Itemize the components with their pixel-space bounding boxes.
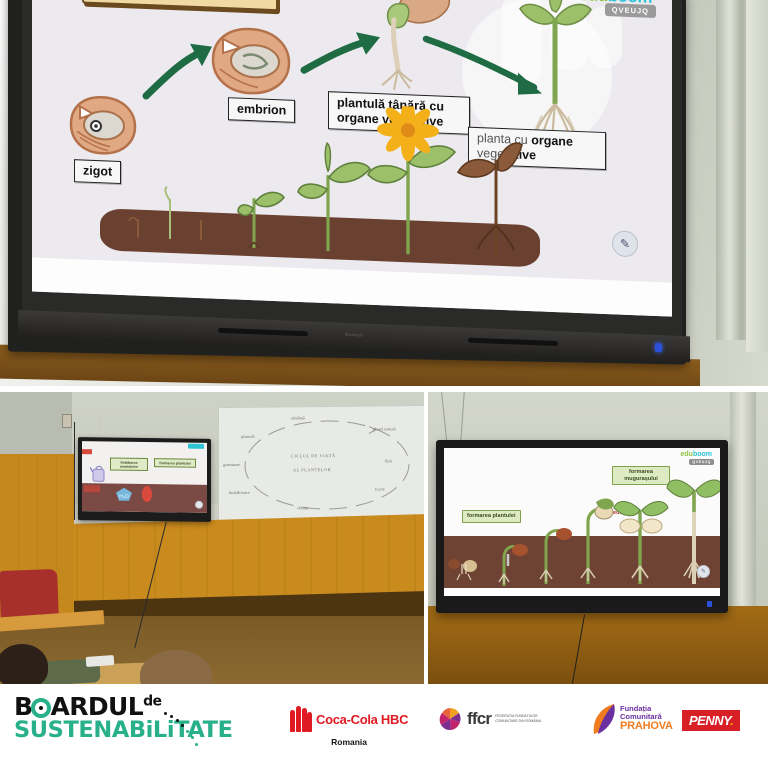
wb-center-line1: CICLUL DE VIAȚĂ [291,453,336,458]
sprout-stage-1 [124,197,154,238]
br-germination-stage-6 [666,460,720,584]
classroom-whiteboard: sămânță plantulă germinare înrădăcinare … [218,405,424,529]
br-label-mugur-line1: formarea [629,469,653,475]
interactive-flat-panel[interactable]: eduboom QVEUJQ dezvoltarea plantelor [8,0,686,365]
door-frame [716,0,750,340]
wall-cable-1 [74,422,75,520]
tv-screen[interactable]: eduboom QVEUJQ dezvoltarea plantelor [32,0,672,317]
watermark-badge: QVEUJQ [605,3,656,18]
ffcr-mark-icon [437,706,463,732]
logo-boardul-sustenabilitate: BARDULde SUSTENABiLiTATE [14,694,214,743]
coca-cola-country: Romania [290,737,408,747]
wb-node-vlastar: vlăstar [297,505,308,510]
lesson-board: eduboom QVEUJQ dezvoltarea plantelor [32,0,672,317]
wb-center-line2: AL PLANTELOR [293,467,331,472]
label-embrion: embrion [228,97,295,122]
boardul-line2: SUSTENABiLiTATE [14,719,214,743]
pen-tool-button[interactable]: ✎ [612,230,638,257]
logo-ffcr: ffcr FEDERAȚIA FUNDAȚIILOR COMUNITARE DI… [437,706,547,732]
fcp-text: Fundația Comunitară PRAHOVA [620,705,673,732]
br-germination-stage-5 [612,476,670,584]
br-door-trim [730,392,756,607]
br-watermark-boom: boom [693,451,712,458]
wb-node-inradacinare: înrădăcinare [229,490,250,495]
arrow-zigot-to-embrion [140,38,220,105]
boardul-de: de [143,694,161,710]
br-wood-panelling [428,606,768,684]
top-photo-panel: eduboom QVEUJQ dezvoltarea plantelor [0,0,768,386]
watering-can-icon [90,461,108,485]
penny-name: PENNY [689,713,730,728]
screen-watermark-chip [188,444,204,449]
label-embrion-text: embrion [237,102,286,118]
br-pen-tool-button[interactable]: ✎ [697,565,710,578]
speaker-vent-left [218,328,308,337]
coca-cola-main: Coca-Cola HBC [290,706,408,732]
seedling-stage-5 [294,138,372,253]
wb-node-germinare: germinare [223,462,240,467]
second-screen-photo-panel: eduboom QVEUJQ formarea plantulei cotile… [428,392,768,684]
logo-fundatia-comunitara-prahova: Fundația Comunitară PRAHOVA [590,702,673,736]
br-label-formarea-plantulei: formarea plantulei [462,510,521,523]
sprout-stage-2 [156,184,186,239]
lesson-title-text: dezvoltarea plantelor [100,0,260,1]
classroom-wall-screen[interactable]: îmbibarea semințelor formarea plantulei … [78,437,211,522]
wall-outlet [62,414,72,428]
br-eduboom-watermark: eduboom [680,451,712,458]
ffcr-subtitle: FEDERAȚIA FUNDAȚIILOR COMUNITARE DIN ROM… [495,714,547,723]
wb-node-planta-matura: plantă matură [373,426,396,431]
h2o-icon: H₂O [116,488,132,502]
flowering-plant-illustration [362,104,458,256]
collage-page: eduboom QVEUJQ dezvoltarea plantelor [0,0,768,768]
screen-corner-tag [82,449,92,454]
svg-text:H₂O: H₂O [119,494,129,500]
label-planta-line1b: organe [531,133,573,149]
br-watermark-edu: edu [680,451,692,458]
wb-node-plantula: plantulă [241,434,255,439]
seed-icon [140,486,154,504]
br-germination-stage-2 [486,522,530,586]
sprout-stage-3 [188,200,216,241]
tv-brand-logo: MaxHub [345,332,363,338]
classroom-photo-panel: sămânță plantulă germinare înrădăcinare … [0,392,424,684]
penny-dot: . [730,713,733,728]
logo-coca-cola-hbc: Coca-Cola HBC Romania [290,706,408,747]
withering-plant-illustration [452,128,532,259]
boardul-line1: BARDULde [14,694,214,719]
label-zigot: zigot [74,159,121,184]
classroom-screen-content: îmbibarea semințelor formarea plantulei … [82,441,207,513]
screen-left-tag [84,485,100,492]
power-led [655,343,662,352]
br-screen-content: eduboom QVEUJQ formarea plantulei cotile… [444,448,720,596]
zigot-seed-illustration [68,93,138,158]
door-frame-edge [746,0,768,352]
speaker-vent-right [468,338,558,347]
fcp-line3: PRAHOVA [620,721,673,733]
label-zigot-text: zigot [83,164,112,179]
power-strip [86,655,115,667]
lesson-title-banner: dezvoltarea plantelor [82,0,278,11]
wb-node-flori: flori [385,458,392,463]
mini-label-imbibarea: îmbibarea semințelor [110,458,148,472]
screen-pen-tool[interactable] [195,501,203,509]
coca-cola-name: Coca-Cola HBC [316,712,408,727]
br-power-led [707,601,712,607]
logo-penny: PENNY. [682,710,740,731]
wb-node-samanta: sămânță [291,415,305,420]
student-head-left [0,644,48,684]
br-germination-stage-4 [568,492,616,584]
embrion-seed-illustration [210,25,292,98]
coca-cola-bottles-icon [290,706,312,732]
penny-wordmark: PENNY. [689,713,733,728]
br-wall-screen[interactable]: eduboom QVEUJQ formarea plantulei cotile… [436,440,728,613]
feather-icon [590,702,618,736]
wb-node-fructe: fructe [375,486,385,491]
ffcr-wordmark: ffcr [467,709,491,729]
br-germination-stage-3 [528,508,572,584]
br-screen-bottom-strip [444,588,720,596]
sponsor-logo-bar: BARDULde SUSTENABiLiTATE Coca-Cola HBC R… [0,686,768,768]
seedling-stage-4 [230,163,286,249]
boardul-o-ring [31,698,51,718]
mini-label-formarea: formarea plantulei [154,458,196,468]
